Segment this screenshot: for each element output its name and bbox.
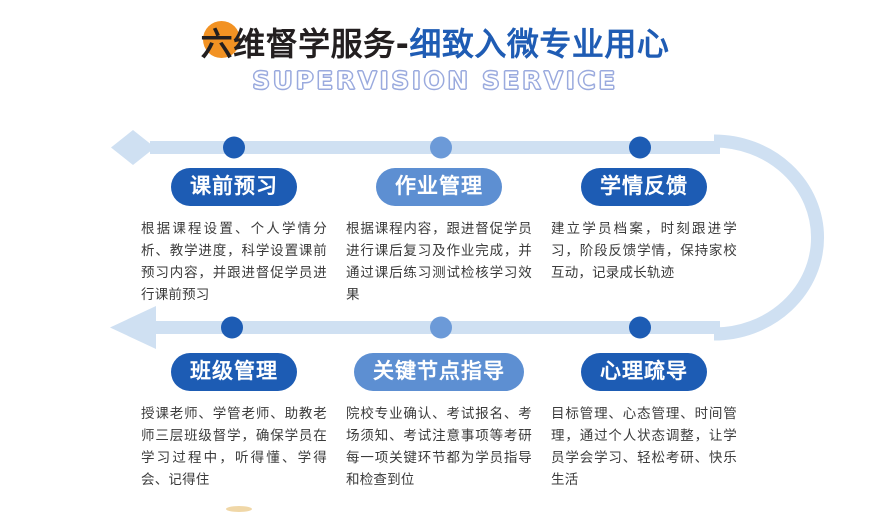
- pill-wrap: 心理疏导: [551, 353, 737, 391]
- card-body-psychological-counseling: 目标管理、心态管理、时间管理，通过个人状态调整，让学员学会学习、轻松考研、快乐生…: [551, 404, 737, 491]
- card-label-pre-class-preview[interactable]: 课前预习: [171, 168, 297, 206]
- pill-wrap: 课前预习: [141, 168, 327, 206]
- card-label-learning-feedback[interactable]: 学情反馈: [581, 168, 707, 206]
- pill-wrap: 班级管理: [141, 353, 327, 391]
- card-key-node-guidance[interactable]: 关键节点指导 院校专业确认、考试报名、考场须知、考试注意事项等考研每一项关键环节…: [346, 353, 532, 492]
- card-label-psychological-counseling[interactable]: 心理疏导: [581, 353, 707, 391]
- infographic-stage: 六维督学服务-细致入微专业用心 SUPERVISION SERVICE 课前预习…: [0, 0, 870, 515]
- pill-wrap: 作业管理: [346, 168, 532, 206]
- pill-wrap: 关键节点指导: [346, 353, 532, 391]
- cards-grid: 课前预习 根据课程设置、个人学情分析、教学进度，科学设置课前预习内容，并跟进督促…: [0, 0, 870, 515]
- card-body-pre-class-preview: 根据课程设置、个人学情分析、教学进度，科学设置课前预习内容，并跟进督促学员进行课…: [141, 219, 327, 306]
- card-label-class-management[interactable]: 班级管理: [171, 353, 297, 391]
- card-class-management[interactable]: 班级管理 授课老师、学管老师、助教老师三层班级督学，确保学员在学习过程中，听得懂…: [141, 353, 327, 492]
- card-psychological-counseling[interactable]: 心理疏导 目标管理、心态管理、时间管理，通过个人状态调整，让学员学会学习、轻松考…: [551, 353, 737, 492]
- card-pre-class-preview[interactable]: 课前预习 根据课程设置、个人学情分析、教学进度，科学设置课前预习内容，并跟进督促…: [141, 168, 327, 307]
- pill-wrap: 学情反馈: [551, 168, 737, 206]
- card-body-learning-feedback: 建立学员档案，时刻跟进学习，阶段反馈学情，保持家校互动，记录成长轨迹: [551, 219, 737, 285]
- card-homework-management[interactable]: 作业管理 根据课程内容，跟进督促学员进行课后复习及作业完成，并通过课后练习测试检…: [346, 168, 532, 307]
- card-body-key-node-guidance: 院校专业确认、考试报名、考场须知、考试注意事项等考研每一项关键环节都为学员指导和…: [346, 404, 532, 491]
- card-learning-feedback[interactable]: 学情反馈 建立学员档案，时刻跟进学习，阶段反馈学情，保持家校互动，记录成长轨迹: [551, 168, 737, 285]
- card-label-key-node-guidance[interactable]: 关键节点指导: [354, 353, 524, 391]
- card-body-class-management: 授课老师、学管老师、助教老师三层班级督学，确保学员在学习过程中，听得懂、学得会、…: [141, 404, 327, 491]
- card-body-homework-management: 根据课程内容，跟进督促学员进行课后复习及作业完成，并通过课后练习测试检核学习效果: [346, 219, 532, 306]
- card-label-homework-management[interactable]: 作业管理: [376, 168, 502, 206]
